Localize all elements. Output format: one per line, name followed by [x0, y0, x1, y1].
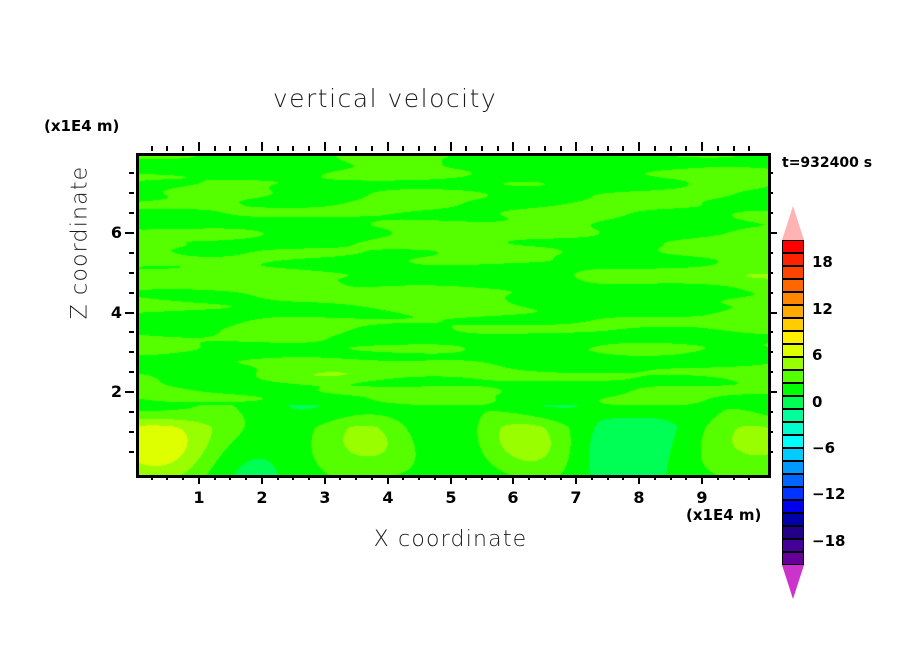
tick-mark — [622, 475, 624, 480]
colorbar-tick-label: −12 — [812, 485, 845, 503]
colorbar-band — [782, 331, 804, 344]
tick-mark — [418, 475, 420, 480]
colorbar-band — [782, 487, 804, 500]
tick-mark — [768, 351, 773, 353]
tick-mark — [434, 146, 436, 151]
colorbar-band — [782, 552, 804, 565]
contour-plot-area — [136, 153, 771, 478]
tick-mark — [768, 292, 773, 294]
tick-mark — [717, 146, 719, 151]
x-tick-label: 2 — [247, 488, 277, 507]
tick-mark — [768, 192, 773, 194]
tick-mark — [261, 475, 263, 484]
tick-mark — [245, 475, 247, 480]
tick-mark — [324, 142, 326, 151]
tick-mark — [387, 142, 389, 151]
tick-mark — [151, 146, 153, 151]
tick-mark — [768, 272, 773, 274]
tick-mark — [481, 146, 483, 151]
colorbar-band — [782, 292, 804, 305]
y-axis-title: Z coordinate — [68, 143, 93, 343]
colorbar-tick-label: 6 — [812, 346, 822, 364]
tick-mark — [748, 475, 750, 480]
x-tick-label: 9 — [687, 488, 717, 507]
tick-mark — [125, 391, 134, 393]
tick-mark — [198, 142, 200, 151]
x-axis-title: X coordinate — [136, 527, 765, 552]
tick-mark — [166, 475, 168, 480]
colorbar-band — [782, 422, 804, 435]
tick-mark — [544, 146, 546, 151]
tick-mark — [670, 475, 672, 480]
tick-mark — [685, 475, 687, 480]
tick-mark — [182, 146, 184, 151]
tick-mark — [465, 475, 467, 480]
colorbar-band — [782, 279, 804, 292]
colorbar-under-arrow — [782, 565, 804, 599]
tick-mark — [670, 146, 672, 151]
tick-mark — [512, 142, 514, 151]
tick-mark — [229, 475, 231, 480]
tick-mark — [768, 411, 773, 413]
tick-mark — [166, 146, 168, 151]
colorbar-band — [782, 513, 804, 526]
tick-mark — [465, 146, 467, 151]
tick-mark — [768, 252, 773, 254]
tick-mark — [560, 475, 562, 480]
colorbar-band — [782, 370, 804, 383]
tick-mark — [434, 475, 436, 480]
tick-mark — [768, 232, 777, 234]
tick-mark — [528, 475, 530, 480]
tick-mark — [575, 142, 577, 151]
tick-mark — [214, 146, 216, 151]
tick-mark — [528, 146, 530, 151]
tick-mark — [387, 475, 389, 484]
tick-mark — [229, 146, 231, 151]
tick-mark — [748, 146, 750, 151]
tick-mark — [125, 312, 134, 314]
colorbar-tick-label: 12 — [812, 300, 833, 318]
tick-mark — [182, 475, 184, 480]
tick-mark — [768, 212, 773, 214]
tick-mark — [339, 475, 341, 480]
colorbar-band — [782, 305, 804, 318]
tick-mark — [733, 146, 735, 151]
tick-mark — [622, 146, 624, 151]
tick-mark — [355, 475, 357, 480]
tick-mark — [768, 312, 777, 314]
colorbar-band — [782, 539, 804, 552]
x-tick-label: 5 — [436, 488, 466, 507]
tick-mark — [129, 192, 134, 194]
tick-mark — [371, 146, 373, 151]
x-tick-label: 6 — [498, 488, 528, 507]
tick-mark — [214, 475, 216, 480]
y-tick-label: 2 — [92, 382, 122, 401]
tick-mark — [129, 212, 134, 214]
x-tick-label: 1 — [184, 488, 214, 507]
tick-mark — [607, 475, 609, 480]
tick-mark — [701, 475, 703, 484]
tick-mark — [292, 475, 294, 480]
timestamp-annotation: t=932400 s — [782, 155, 872, 171]
tick-mark — [129, 292, 134, 294]
colorbar-band — [782, 383, 804, 396]
tick-mark — [129, 431, 134, 433]
tick-mark — [575, 475, 577, 484]
tick-mark — [717, 475, 719, 480]
colorbar-band — [782, 526, 804, 539]
tick-mark — [733, 475, 735, 480]
y-tick-label: 6 — [92, 223, 122, 242]
tick-mark — [402, 146, 404, 151]
tick-mark — [768, 331, 773, 333]
x-tick-label: 7 — [561, 488, 591, 507]
tick-mark — [245, 146, 247, 151]
tick-mark — [638, 142, 640, 151]
colorbar-band — [782, 461, 804, 474]
tick-mark — [512, 475, 514, 484]
tick-mark — [497, 146, 499, 151]
tick-mark — [591, 146, 593, 151]
tick-mark — [768, 391, 777, 393]
tick-mark — [129, 371, 134, 373]
colorbar-tick-label: 0 — [812, 393, 822, 411]
tick-mark — [129, 411, 134, 413]
colorbar-band — [782, 474, 804, 487]
tick-mark — [654, 475, 656, 480]
tick-mark — [277, 475, 279, 480]
tick-mark — [151, 475, 153, 480]
tick-mark — [324, 475, 326, 484]
tick-mark — [339, 146, 341, 151]
tick-mark — [129, 272, 134, 274]
colorbar-band — [782, 357, 804, 370]
x-tick-label: 4 — [373, 488, 403, 507]
x-axis-unit-label: (x1E4 m) — [686, 506, 761, 524]
tick-mark — [544, 475, 546, 480]
tick-mark — [402, 475, 404, 480]
colorbar-band — [782, 253, 804, 266]
colorbar-band — [782, 448, 804, 461]
tick-mark — [129, 451, 134, 453]
tick-mark — [497, 475, 499, 480]
tick-mark — [591, 475, 593, 480]
tick-mark — [481, 475, 483, 480]
colorbar-over-arrow — [782, 206, 804, 240]
tick-mark — [129, 252, 134, 254]
x-tick-label: 3 — [310, 488, 340, 507]
colorbar-band — [782, 435, 804, 448]
tick-mark — [701, 142, 703, 151]
tick-mark — [768, 451, 773, 453]
tick-mark — [129, 331, 134, 333]
tick-mark — [685, 146, 687, 151]
colorbar-band — [782, 240, 804, 253]
tick-mark — [198, 475, 200, 484]
tick-mark — [654, 146, 656, 151]
colorbar-band — [782, 500, 804, 513]
tick-mark — [355, 146, 357, 151]
tick-mark — [129, 172, 134, 174]
colorbar-band — [782, 409, 804, 422]
colorbar-tick-label: 18 — [812, 253, 833, 271]
colorbar-band — [782, 266, 804, 279]
y-axis-unit-label: (x1E4 m) — [44, 117, 119, 135]
colorbar-band — [782, 396, 804, 409]
tick-mark — [261, 142, 263, 151]
y-tick-label: 4 — [92, 303, 122, 322]
tick-mark — [308, 475, 310, 480]
tick-mark — [607, 146, 609, 151]
tick-mark — [768, 172, 773, 174]
tick-mark — [371, 475, 373, 480]
colorbar-band — [782, 344, 804, 357]
tick-mark — [560, 146, 562, 151]
tick-mark — [450, 475, 452, 484]
colorbar-tick-label: −6 — [812, 439, 835, 457]
tick-mark — [292, 146, 294, 151]
colorbar-band — [782, 318, 804, 331]
tick-mark — [418, 146, 420, 151]
tick-mark — [308, 146, 310, 151]
tick-mark — [638, 475, 640, 484]
colorbar-tick-label: −18 — [812, 532, 845, 550]
page-title: vertical velocity — [0, 84, 770, 113]
tick-mark — [768, 431, 773, 433]
tick-mark — [450, 142, 452, 151]
tick-mark — [768, 371, 773, 373]
tick-mark — [129, 351, 134, 353]
tick-mark — [125, 232, 134, 234]
x-tick-label: 8 — [624, 488, 654, 507]
contour-field — [139, 156, 768, 475]
tick-mark — [277, 146, 279, 151]
